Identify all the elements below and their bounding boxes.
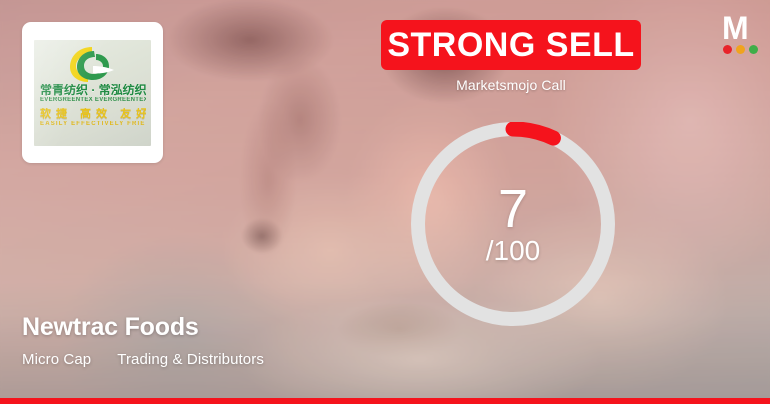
- score-value: 7: [498, 183, 528, 235]
- logo-chinese-secondary: 软捷 高效 友好: [40, 108, 146, 120]
- score-readout: 7 /100: [411, 122, 615, 326]
- company-logo-image: 常青纺织 · 常泓纺织 EVERGREENTEX EVERGREENTEX 软捷…: [34, 40, 151, 146]
- logo-swoosh-icon: [67, 44, 117, 84]
- brand-dot-row: [719, 45, 763, 54]
- company-market-cap: Micro Cap: [22, 351, 91, 368]
- stock-call-card: 常青纺织 · 常泓纺织 EVERGREENTEX EVERGREENTEX 软捷…: [0, 0, 770, 404]
- bottom-accent-rule: [0, 398, 770, 404]
- logo-english-secondary: EASILY EFFECTIVELY FRIENDLY: [40, 121, 146, 128]
- marketsmojo-call-block: STRONG SELL Marketsmojo Call: [381, 20, 641, 93]
- company-logo-card[interactable]: 常青纺织 · 常泓纺织 EVERGREENTEX EVERGREENTEX 软捷…: [22, 22, 163, 163]
- company-info: Newtrac Foods Micro Cap Trading & Distri…: [22, 312, 264, 368]
- company-sector: Trading & Distributors: [117, 351, 264, 368]
- score-gauge: 7 /100: [411, 122, 615, 326]
- logo-chinese-primary: 常青纺织 · 常泓纺织: [40, 84, 146, 97]
- marketsmojo-logo[interactable]: M: [719, 14, 763, 58]
- logo-english-primary: EVERGREENTEX EVERGREENTEX: [40, 97, 146, 104]
- green-dot-icon: [749, 45, 758, 54]
- call-badge: STRONG SELL: [381, 20, 641, 70]
- call-subtitle: Marketsmojo Call: [381, 77, 641, 93]
- company-meta: Micro Cap Trading & Distributors: [22, 351, 264, 368]
- brand-m-mark: M: [719, 14, 763, 42]
- score-max: /100: [486, 237, 541, 265]
- orange-dot-icon: [736, 45, 745, 54]
- company-name: Newtrac Foods: [22, 312, 264, 342]
- red-dot-icon: [723, 45, 732, 54]
